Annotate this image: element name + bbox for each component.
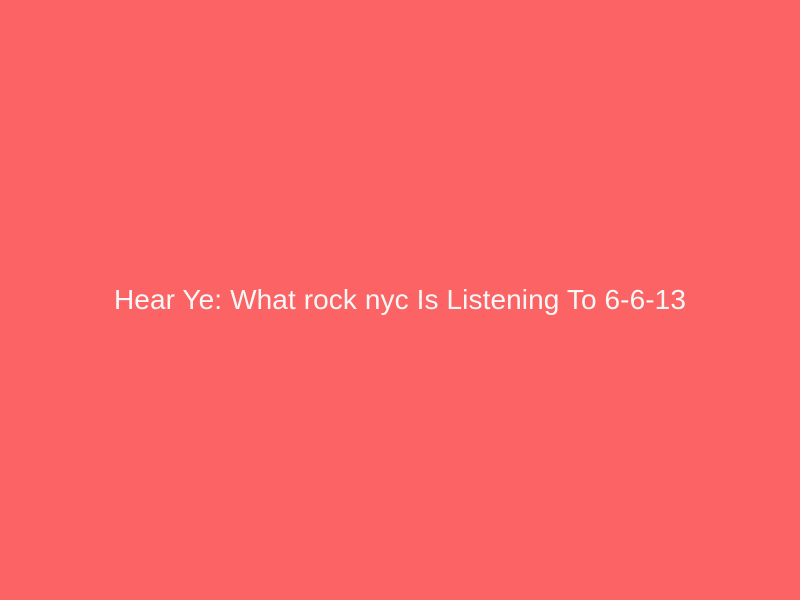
placeholder-card: Hear Ye: What rock nyc Is Listening To 6… bbox=[0, 0, 800, 600]
page-title: Hear Ye: What rock nyc Is Listening To 6… bbox=[94, 283, 706, 317]
